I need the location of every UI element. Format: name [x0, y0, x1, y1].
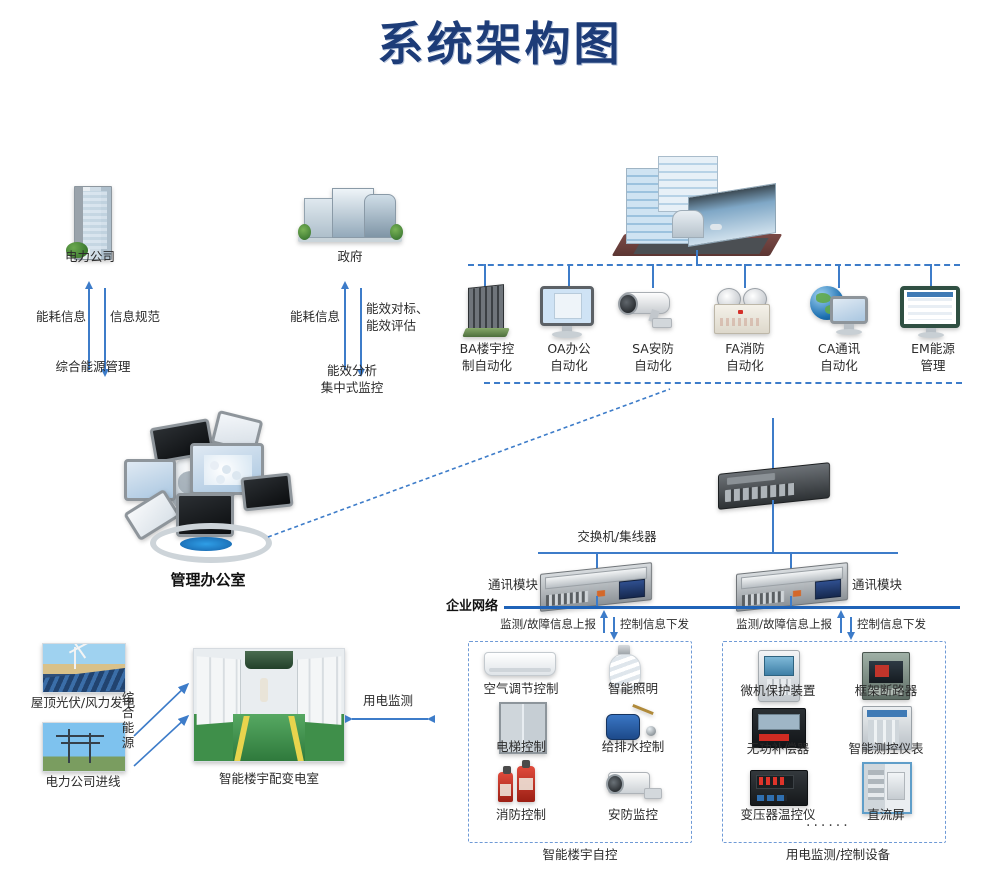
automation-label-ca: CA通讯 自动化 [800, 340, 878, 374]
government-label: 政府 [300, 248, 400, 265]
government-building-icon [298, 188, 402, 244]
automation-label-oa: OA办公 自动化 [530, 340, 608, 374]
energy-management-screen-icon [900, 286, 962, 338]
building-icon [464, 286, 508, 338]
comm-module-left-label: 通讯模块 [462, 576, 538, 593]
panel2-label-breaker: 框架断路器 [840, 682, 932, 699]
solar-wind-photo [42, 643, 126, 693]
automation-lower-dashed-line [484, 382, 962, 384]
drop-line-ba [484, 264, 486, 288]
system-architecture-diagram: 系统架构图 电力公司 能耗信息 信息规范 综合能源管理 政府 能耗信息 能效对标… [0, 0, 1000, 889]
gov-down-arrow [360, 288, 362, 370]
panel1-label-security: 安防监控 [590, 806, 676, 823]
power-monitoring-label: 用电监测 [348, 692, 428, 709]
gov-up-label: 能耗信息 [272, 308, 340, 325]
panel1-caption: 智能楼宇自控 [500, 846, 660, 863]
management-office-label: 管理办公室 [128, 572, 288, 589]
drop-line-sa [652, 264, 654, 288]
fire-extinguisher-icon [498, 762, 546, 804]
desktop-monitor-icon [540, 286, 596, 338]
drop-line-oa [568, 264, 570, 288]
power-up-label: 能耗信息 [16, 308, 86, 325]
emergency-light-icon [714, 288, 772, 334]
uplink-arrow-right [840, 617, 842, 633]
comm-module-right-icon [736, 562, 848, 612]
power-company-label: 电力公司 [40, 248, 140, 265]
power-grid-photo [42, 722, 126, 772]
integrated-energy-label: 综合能源 [118, 690, 138, 750]
downlink-label-right: 控制信息下发 [857, 616, 955, 632]
automation-label-ba: BA楼宇控 制自动化 [448, 340, 526, 374]
power-grid-label: 电力公司进线 [20, 773, 146, 790]
panel1-label-elevator: 电梯控制 [478, 738, 564, 755]
panel1-label-lighting: 智能照明 [590, 680, 676, 697]
panel1-label-water: 给排水控制 [590, 738, 676, 755]
integrated-energy-management-label: 综合能源管理 [26, 358, 160, 375]
enterprise-network-label: 企业网络 [432, 598, 498, 615]
power-down-label: 信息规范 [110, 308, 190, 325]
panel2-label-meter: 智能测控仪表 [838, 740, 934, 757]
gov-down-label: 能效对标、 能效评估 [366, 300, 440, 334]
drop-line-fa [744, 264, 746, 288]
panel2-label-relay: 微机保护装置 [730, 682, 826, 699]
integrated-energy-arrows [130, 660, 200, 780]
downlink-arrow-left [613, 617, 615, 633]
air-conditioner-icon [484, 652, 556, 676]
surveillance-camera-icon [608, 768, 664, 798]
downlink-arrow-right [850, 617, 852, 633]
panel1-label-fire: 消防控制 [478, 806, 564, 823]
security-camera-icon [620, 288, 682, 332]
page-title: 系统架构图 [0, 8, 1000, 74]
switch-uplink-line [772, 418, 774, 470]
substation-label: 智能楼宇配变电室 [198, 770, 340, 787]
panel2-label-compensator: 无功补偿器 [732, 740, 824, 757]
network-switch-icon [718, 462, 830, 510]
downlink-label-left: 控制信息下发 [620, 616, 718, 632]
building-to-bus-line [696, 250, 698, 266]
enterprise-network-bus [504, 606, 960, 609]
panel1-label-ac: 空气调节控制 [478, 680, 564, 697]
automation-label-em: EM能源 管理 [894, 340, 972, 374]
automation-label-sa: SA安防 自动化 [614, 340, 692, 374]
panel2-label-dcpanel: 直流屏 [845, 806, 927, 823]
uplink-arrow-left [603, 617, 605, 633]
switch-distribution-bus [538, 552, 898, 554]
panel2-ellipsis: ······ [806, 818, 851, 834]
automation-label-fa: FA消防 自动化 [706, 340, 784, 374]
automation-bus-dashed-line [468, 264, 960, 266]
power-monitoring-arrow [352, 718, 428, 720]
panel2-caption: 用电监测/控制设备 [748, 846, 928, 863]
drop-line-ca [838, 264, 840, 288]
smart-building-3d-icon [612, 150, 782, 260]
globe-monitor-icon [810, 286, 870, 338]
switch-hub-label: 交换机/集线器 [530, 528, 704, 545]
uplink-label-left: 监测/故障信息上报 [480, 616, 596, 632]
drop-line-em [930, 264, 932, 288]
substation-room-photo [193, 648, 345, 762]
uplink-label-right: 监测/故障信息上报 [716, 616, 832, 632]
comm-module-right-label: 通讯模块 [852, 576, 930, 593]
transformer-temp-controller-icon [750, 770, 808, 806]
office-to-systems-connector [260, 385, 680, 545]
switch-downlink-line [772, 500, 774, 552]
gov-up-arrow [344, 288, 346, 370]
